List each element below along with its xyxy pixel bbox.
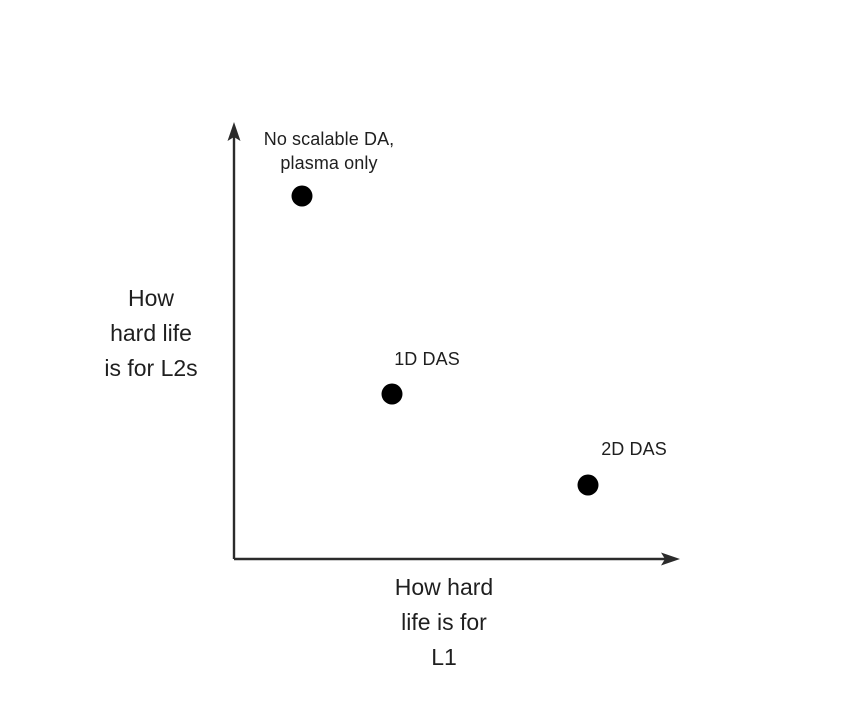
- data-point-no-scalable-da[interactable]: [292, 186, 313, 207]
- chart-canvas: No scalable DA, plasma only 1D DAS 2D DA…: [0, 0, 848, 704]
- point-label-no-scalable-da: No scalable DA, plasma only: [264, 127, 395, 175]
- y-axis-title: How hard life is for L2s: [104, 281, 197, 386]
- arrow-up-icon: [228, 122, 241, 141]
- data-point-1d-das[interactable]: [382, 384, 403, 405]
- x-axis-title: How hard life is for L1: [395, 570, 493, 675]
- point-label-1d-das: 1D DAS: [394, 347, 460, 371]
- arrow-right-icon: [661, 553, 680, 566]
- data-point-2d-das[interactable]: [578, 475, 599, 496]
- point-label-2d-das: 2D DAS: [601, 437, 667, 461]
